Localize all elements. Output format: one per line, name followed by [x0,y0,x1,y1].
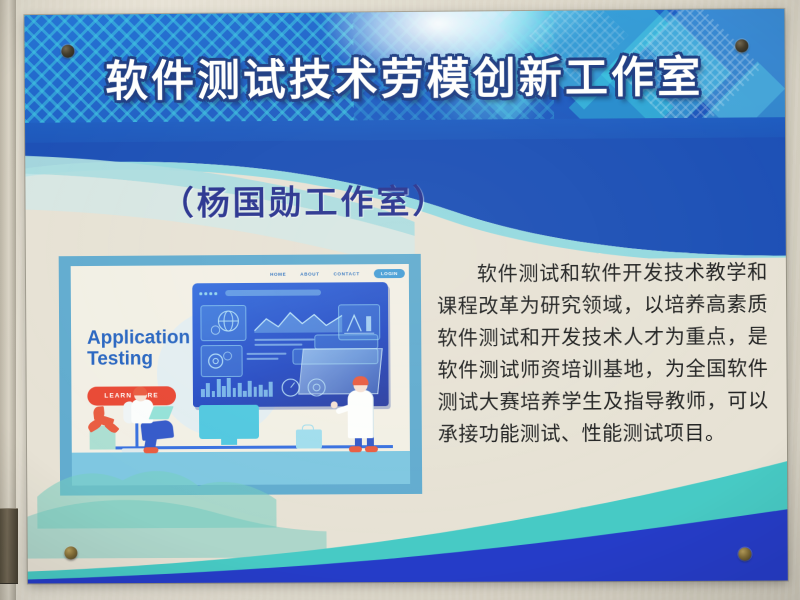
text-line [254,344,302,346]
gear-icon [202,346,242,376]
seated-person-hair [133,386,147,395]
screw-bottom-right [738,548,751,561]
standing-person-hair [353,376,369,385]
screw-bottom-left [64,546,77,559]
poster-subtitle-container: （杨国勋工作室） [25,179,584,227]
headline-line-1: Application [87,327,190,349]
monitor-toolbar [199,288,381,298]
wall-poster: 软件测试技术劳模创新工作室 （杨国勋工作室） HOME ABOUT CONTAC… [24,9,787,584]
text-line [254,339,314,341]
bottom-wave-decoration [27,405,788,584]
bar-chart-icon [339,305,379,339]
audio-bars [201,377,273,397]
window-dot-icon [209,292,212,295]
text-line [247,358,279,360]
nav-link-home[interactable]: HOME [270,272,286,277]
globe-panel [200,305,246,341]
window-dot-icon [199,292,202,295]
monitor-search-bar [225,290,321,297]
window-dot-icon [214,292,217,295]
mock-website-nav: HOME ABOUT CONTACT LOGIN [270,269,405,279]
page-title: 软件测试技术劳模创新工作室 [105,50,703,111]
screw-top-left [61,45,74,58]
door-latch [0,508,18,584]
nav-link-contact[interactable]: CONTACT [334,271,360,276]
poster-inner: 软件测试技术劳模创新工作室 （杨国勋工作室） HOME ABOUT CONTAC… [24,9,787,584]
nav-login-button[interactable]: LOGIN [374,269,405,278]
illustration-headline: Application Testing [87,327,190,370]
headline-line-2: Testing [87,348,153,369]
nav-link-about[interactable]: ABOUT [300,272,319,277]
text-line [247,353,287,355]
line-chart [254,306,342,333]
page-subtitle: （杨国勋工作室） [161,180,449,226]
window-dot-icon [204,292,207,295]
glass-overlay-panel [298,348,382,394]
screw-top-right [735,39,748,52]
globe-icon [201,306,245,340]
settings-panel [201,345,243,377]
bar-chart-panel [338,304,380,340]
poster-title-container: 软件测试技术劳模创新工作室 [25,49,785,111]
